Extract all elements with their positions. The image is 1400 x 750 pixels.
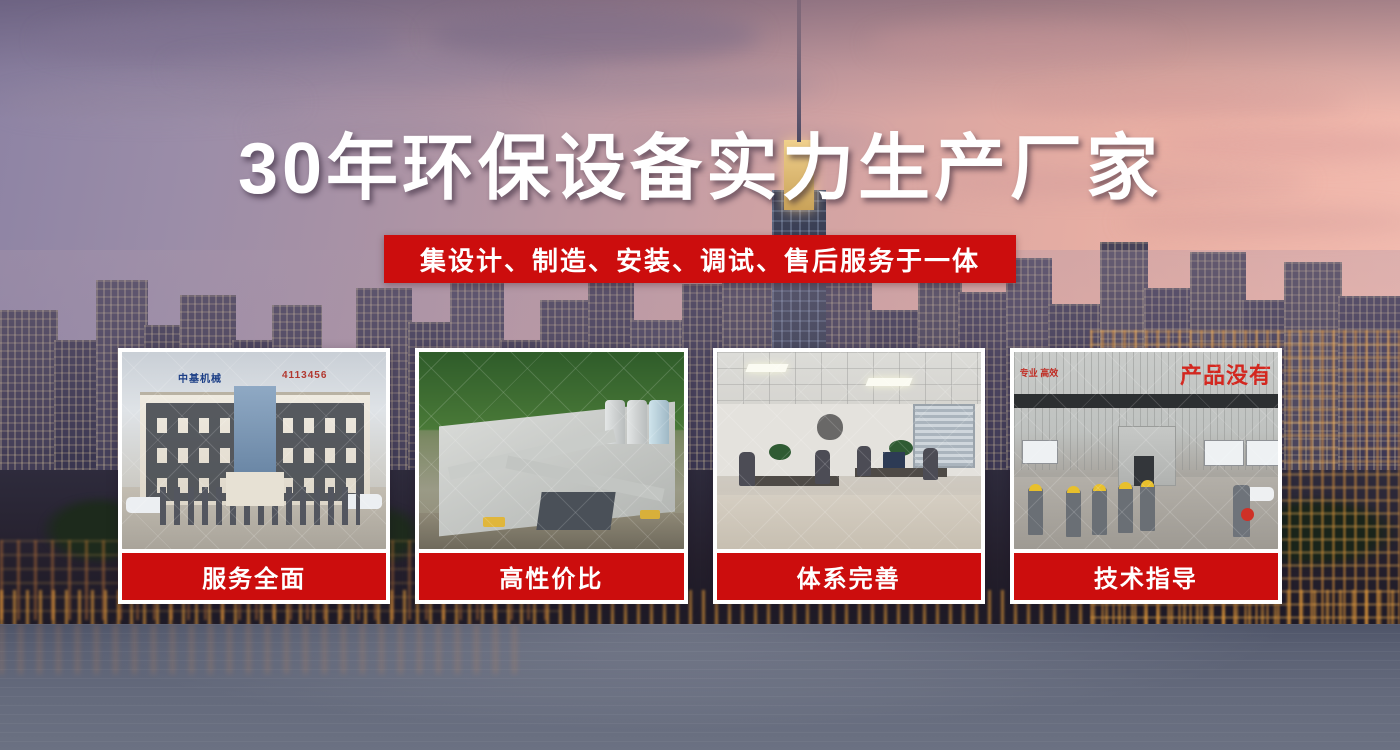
card-caption: 体系完善 [717,553,981,600]
monitor-icon [883,452,905,468]
tower-antenna [797,0,801,142]
card-photo: 中基机械 4113456 [122,352,386,549]
feature-card-list: 中基机械 4113456 服务全面 高性价比 [118,348,1282,604]
card-caption: 高性价比 [419,553,683,600]
subtitle-banner: 集设计、制造、安装、调试、售后服务于一体 [384,235,1016,283]
card-photo [419,352,683,549]
card-photo [717,352,981,549]
subtitle-text: 集设计、制造、安装、调试、售后服务于一体 [420,241,980,278]
promo-banner-stage: 30年环保设备实力生产厂家 集设计、制造、安装、调试、售后服务于一体 中基机械 … [0,0,1400,750]
feature-card[interactable]: 体系完善 [713,348,985,604]
page-title: 30年环保设备实力生产厂家 [0,133,1400,205]
card-caption: 服务全面 [122,553,386,600]
building-sign-text: 中基机械 [178,370,222,385]
water-light-reflection [0,624,520,674]
feature-card[interactable]: 高性价比 [415,348,687,604]
card-photo: 专业 高效 产品没有 [1014,352,1278,549]
feature-card[interactable]: 专业 高效 产品没有 技术指导 [1010,348,1282,604]
factory-sign-text: 产品没有 [1180,358,1272,390]
wall-decal-icon [817,414,843,440]
building-phone-text: 4113456 [282,370,327,381]
factory-slogan-text: 专业 高效 [1020,368,1059,379]
card-caption: 技术指导 [1014,553,1278,600]
red-helmet-icon [1241,508,1254,521]
feature-card[interactable]: 中基机械 4113456 服务全面 [118,348,390,604]
